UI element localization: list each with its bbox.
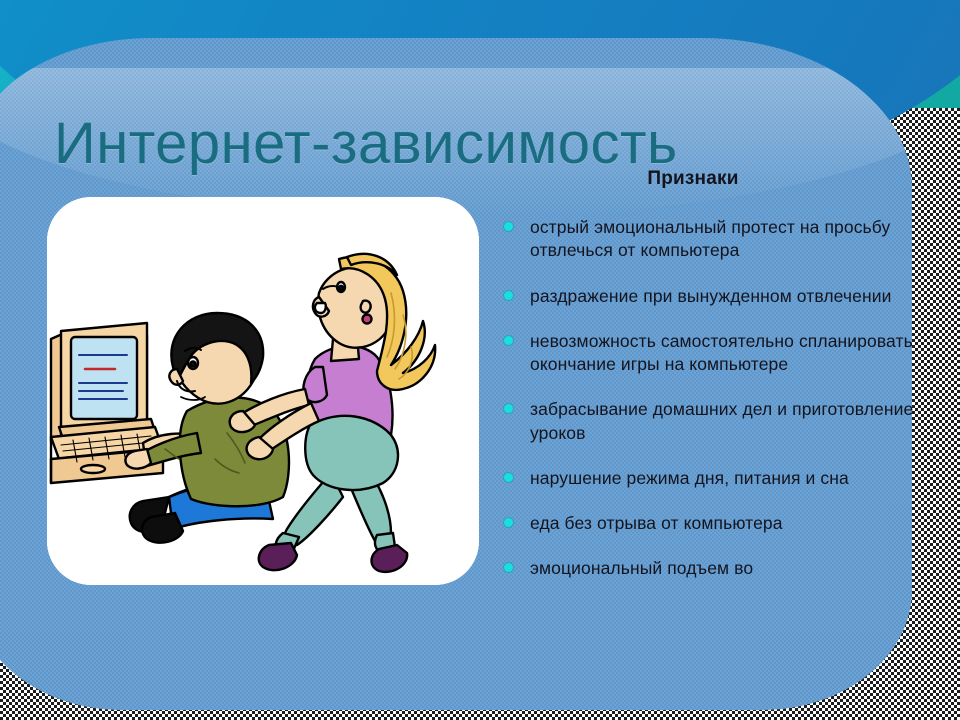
illustration-woman-pulling-boy-from-computer — [47, 197, 479, 585]
list-item-label: невозможность самостоятельно спланироват… — [530, 331, 913, 374]
bullet-marker-icon — [504, 404, 513, 413]
list-item: еда без отрыва от компьютера — [496, 512, 926, 535]
signs-column: Признаки острый эмоциональный протест на… — [496, 168, 926, 720]
bullet-marker-icon — [504, 563, 513, 572]
list-item-label: острый эмоциональный протест на просьбу … — [530, 217, 890, 260]
list-item: забрасывание домашних дел и приготовлени… — [496, 398, 926, 445]
page-title: Интернет-зависимость — [54, 115, 678, 173]
list-item: нарушение режима дня, питания и сна — [496, 467, 926, 490]
bullet-marker-icon — [504, 336, 513, 345]
signs-heading: Признаки — [496, 168, 926, 190]
list-item: раздражение при вынужденном отвлечении — [496, 285, 926, 308]
list-item: эмоциональный подъем во — [496, 557, 926, 580]
list-item-label: еда без отрыва от компьютера — [530, 513, 783, 533]
list-item-label: раздражение при вынужденном отвлечении — [530, 286, 891, 306]
signs-list: острый эмоциональный протест на просьбу … — [496, 216, 926, 581]
bullet-marker-icon — [504, 291, 513, 300]
list-item-label: нарушение режима дня, питания и сна — [530, 468, 849, 488]
list-item: невозможность самостоятельно спланироват… — [496, 330, 926, 377]
slide-canvas: Интернет-зависимость — [0, 0, 960, 720]
list-item: острый эмоциональный протест на просьбу … — [496, 216, 926, 263]
bullet-marker-icon — [504, 518, 513, 527]
list-item-label: забрасывание домашних дел и приготовлени… — [530, 399, 913, 442]
illustration-card — [47, 197, 479, 585]
list-item-label: эмоциональный подъем во — [530, 558, 753, 578]
bullet-marker-icon — [504, 473, 513, 482]
bullet-marker-icon — [504, 222, 513, 231]
